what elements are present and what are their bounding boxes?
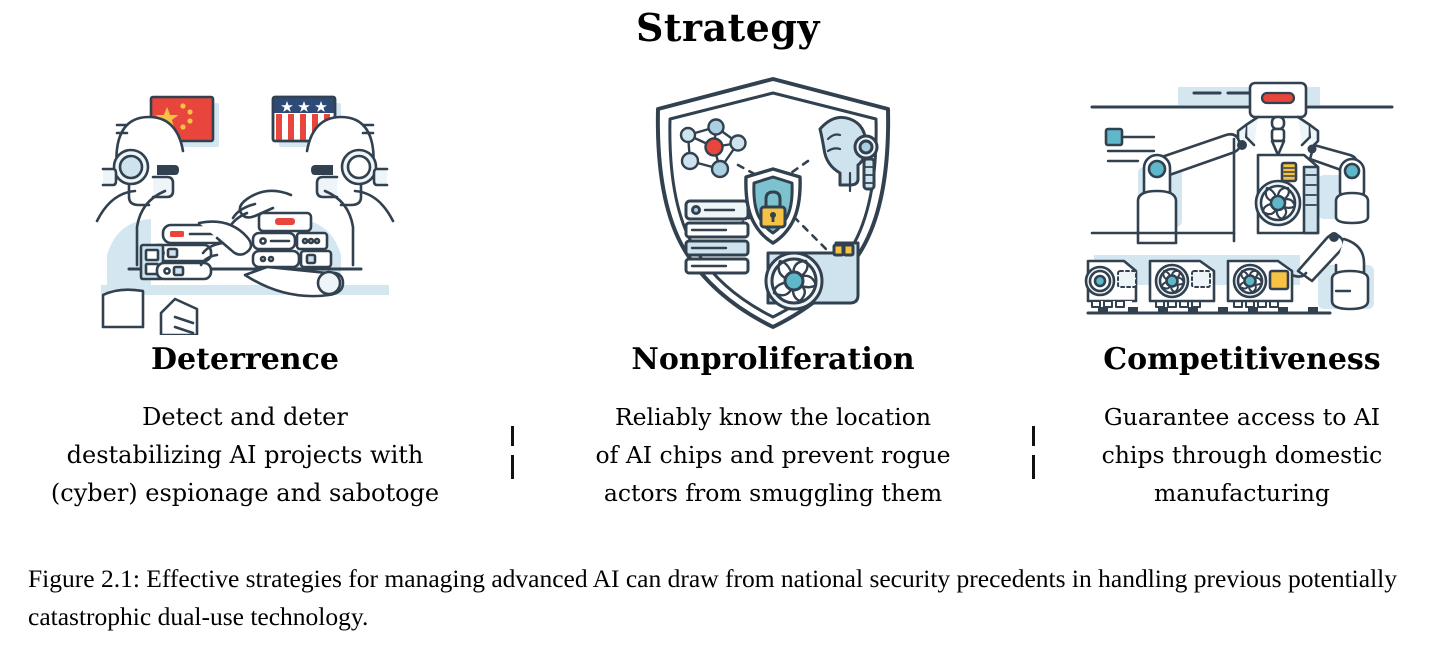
competitiveness-illustration <box>1042 70 1442 338</box>
divider-right-segment-bottom <box>1032 455 1035 479</box>
column-description-deterrence: Detect and deter destabilizing AI projec… <box>15 398 475 512</box>
divider-left-segment-bottom <box>511 455 514 479</box>
deterrence-illustration <box>15 70 475 338</box>
gpu-card-3 <box>1228 261 1292 307</box>
strategy-column-deterrence: Deterrence Detect and deter destabilizin… <box>15 70 475 540</box>
strategy-column-competitiveness: Competitiveness Guarantee access to AI c… <box>1042 70 1442 540</box>
column-heading-competitiveness: Competitiveness <box>1042 342 1442 378</box>
server-rack <box>686 201 748 273</box>
nonproliferation-illustration <box>548 70 998 338</box>
figure-title: Strategy <box>0 4 1456 52</box>
gpu-card-1 <box>1086 261 1136 307</box>
divider-right-segment-top <box>1032 426 1035 446</box>
status-indicator <box>1106 129 1154 161</box>
gpu-in-assembly <box>1256 155 1318 233</box>
figure-caption: Figure 2.1: Effective strategies for man… <box>28 560 1432 636</box>
strategy-column-nonproliferation: Nonproliferation Reliably know the locat… <box>548 70 998 540</box>
gpu-card-2 <box>1150 261 1214 307</box>
divider-left-segment-top <box>511 426 514 446</box>
column-description-competitiveness: Guarantee access to AI chips through dom… <box>1042 398 1442 512</box>
column-heading-nonproliferation: Nonproliferation <box>548 342 998 378</box>
column-heading-deterrence: Deterrence <box>15 342 475 378</box>
strategy-columns: Deterrence Detect and deter destabilizin… <box>0 70 1456 540</box>
gpu-fan-card <box>766 243 858 309</box>
column-description-nonproliferation: Reliably know the location of AI chips a… <box>548 398 998 512</box>
server-stack-right <box>253 213 331 267</box>
overhead-gantry-gripper <box>1238 83 1318 155</box>
